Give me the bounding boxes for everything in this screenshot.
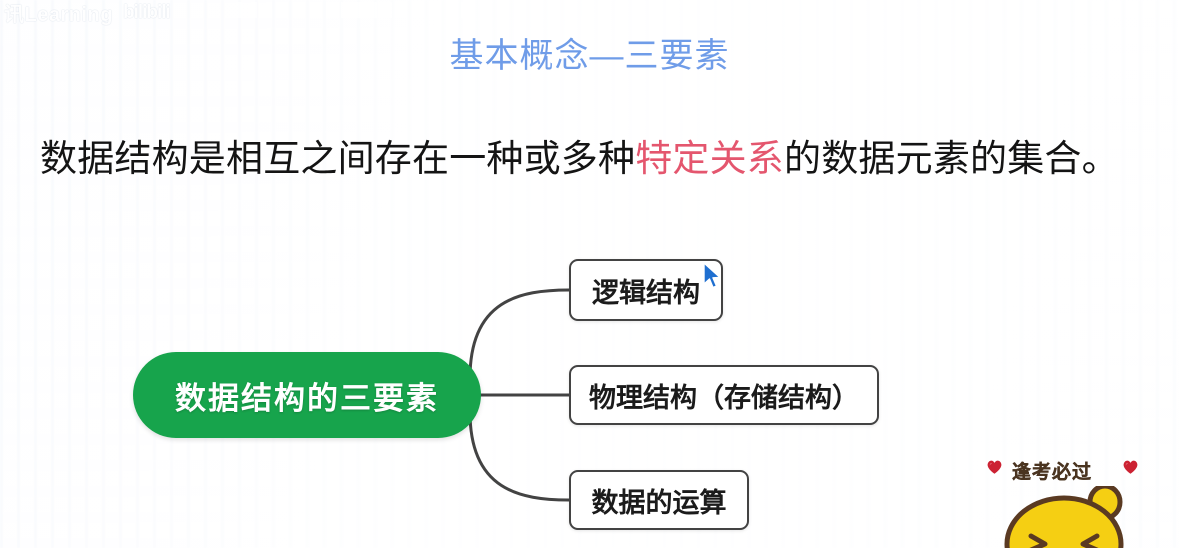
mindmap-branch-physical-structure[interactable]: 物理结构（存储结构） xyxy=(569,365,879,425)
mindmap-branch-label: 数据的运算 xyxy=(592,481,727,520)
mindmap-branch-data-operations[interactable]: 数据的运算 xyxy=(569,470,749,530)
mascot-cat-face-icon xyxy=(1004,486,1130,548)
slide-canvas: 讯Learning bilibili 基本概念—三要素 数据结构是相互之间存在一… xyxy=(0,0,1179,548)
mascot-group: 逢考必过 xyxy=(964,453,1179,548)
mindmap-root-node[interactable]: 数据结构的三要素 xyxy=(133,352,481,438)
heart-icon xyxy=(986,459,1003,475)
mindmap-root-label: 数据结构的三要素 xyxy=(175,373,439,418)
mindmap-branch-logical-structure[interactable]: 逻辑结构 xyxy=(569,259,723,321)
heart-icon xyxy=(1122,459,1139,475)
connector-to-logical-structure xyxy=(470,290,569,378)
mascot-slogan: 逢考必过 xyxy=(1012,457,1092,484)
mindmap-branch-label: 物理结构（存储结构） xyxy=(589,376,859,415)
connector-to-data-operations xyxy=(470,412,569,500)
mindmap-branch-label: 逻辑结构 xyxy=(592,271,700,310)
